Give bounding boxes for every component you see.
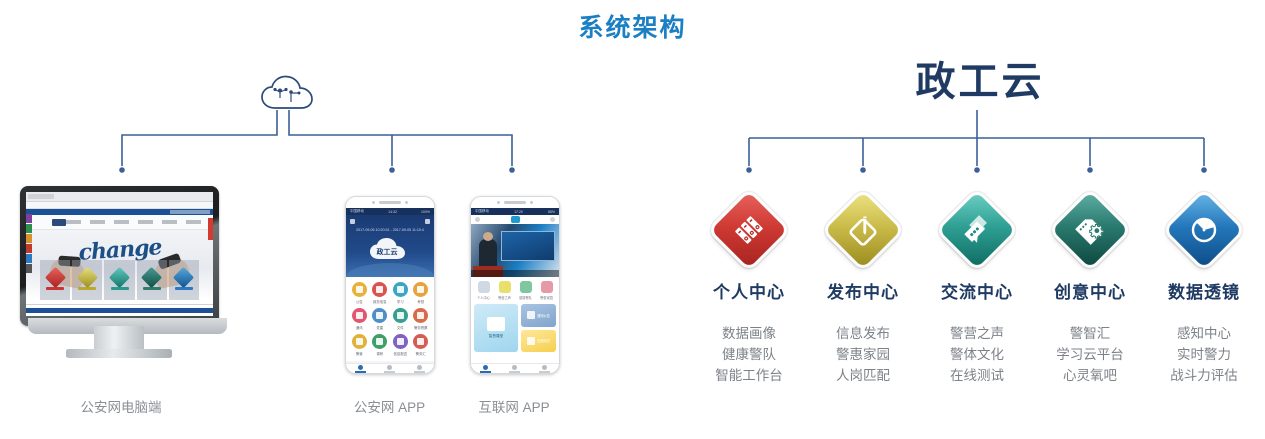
portal-card <box>104 260 134 300</box>
module-item[interactable]: 警智汇 <box>1030 323 1150 344</box>
device-desktop: change <box>12 186 227 371</box>
brand-logo: 政工云 <box>880 62 1080 102</box>
portal-footer <box>26 304 213 316</box>
monitor-screen: change <box>26 192 213 316</box>
device-label-desktop: 公安网电脑端 <box>46 396 196 416</box>
module-item[interactable]: 健康警队 <box>689 344 809 365</box>
portal-card <box>137 260 167 300</box>
app-toolbar <box>471 215 559 224</box>
portal-card <box>72 260 102 300</box>
portal-side-tabs <box>26 214 32 274</box>
svg-text:政工云: 政工云 <box>377 247 398 256</box>
portal-logo <box>52 219 66 226</box>
module-title: 创意中心 <box>1030 278 1150 303</box>
module-item[interactable]: 学习云平台 <box>1030 344 1150 365</box>
tab-home[interactable] <box>346 364 375 374</box>
status-time: 14:32 <box>388 210 397 214</box>
portal-topbar <box>26 209 213 215</box>
status-carrier: 中国移动 <box>350 209 364 214</box>
status-battery: 100% <box>421 210 430 214</box>
phone-notch <box>471 197 559 208</box>
tab-smart-apps[interactable] <box>500 364 529 374</box>
module-items: 信息发布 警惠家园 人岗匹配 <box>803 323 923 386</box>
module-items: 警智汇 学习云平台 心灵氧吧 <box>1030 323 1150 386</box>
module-creative-center[interactable]: 创意中心 警智汇 学习云平台 心灵氧吧 <box>1030 196 1150 386</box>
screen-wall <box>501 231 555 261</box>
notice-icon <box>527 311 535 319</box>
module-item[interactable]: 实时警力 <box>1144 344 1264 365</box>
app-grid-item[interactable]: 学习 <box>391 282 410 304</box>
quick-icon-label: 警营之声 <box>498 295 511 300</box>
banner-photo[interactable] <box>471 224 559 277</box>
app-item-label: 调研 <box>376 351 383 356</box>
module-item[interactable]: 警体文化 <box>917 344 1037 365</box>
module-item[interactable]: 在线测试 <box>917 365 1037 386</box>
app-item-label: 警务督察 <box>414 325 428 330</box>
status-battery: 88% <box>548 210 555 214</box>
module-icon <box>1056 196 1124 264</box>
phone-tabbar <box>346 363 434 374</box>
app-grid-item[interactable]: 警营 <box>350 334 369 356</box>
quick-icon-item[interactable]: 个人中心 <box>474 281 493 300</box>
module-title: 个人中心 <box>689 278 809 303</box>
device-label-internet-app: 互联网 APP <box>455 396 573 416</box>
module-personal-center[interactable]: 个人中心 数据画像 健康警队 智能工作台 <box>689 196 809 386</box>
app-grid-item[interactable]: 信息报送 <box>391 334 410 356</box>
document-gear-icon <box>1042 182 1138 278</box>
module-items: 警营之声 警体文化 在线测试 <box>917 323 1037 386</box>
portal-card <box>40 260 70 300</box>
app-grid-item[interactable]: 通讯 <box>350 308 369 330</box>
module-items: 感知中心 实时警力 战斗力评估 <box>1144 323 1264 386</box>
app-item-label: 学习 <box>397 299 404 304</box>
tab-home[interactable] <box>471 364 500 374</box>
device-police-app: 中国移动 14:32 100% 2017-09-05 10:20:51 - 20… <box>345 196 435 374</box>
menu-icon[interactable] <box>475 217 480 222</box>
quick-icon-row: 个人中心 警营之声 健康警队 警惠家园 <box>471 277 559 304</box>
app-logo-icon <box>511 216 520 223</box>
app-header: 2017-09-05 10:20:51 - 2017-09-05 11:10:4… <box>346 215 434 277</box>
module-icon <box>1170 196 1238 264</box>
portal-navbar <box>26 215 213 230</box>
app-item-label: 公告 <box>356 299 363 304</box>
test-icon <box>527 337 535 345</box>
app-item-label: 政务信息 <box>373 299 387 304</box>
browser-tabbar <box>26 192 213 202</box>
portal-nav-items <box>66 220 213 224</box>
app-grid-item[interactable]: 公告 <box>350 282 369 304</box>
module-title: 交流中心 <box>917 278 1037 303</box>
module-data-lens[interactable]: 数据透镜 感知中心 实时警力 战斗力评估 <box>1144 196 1264 386</box>
feature-card-label: 智慧课堂 <box>489 334 503 339</box>
module-title: 发布中心 <box>803 278 923 303</box>
module-publish-center[interactable]: 发布中心 信息发布 警惠家园 人岗匹配 <box>803 196 923 386</box>
module-icon <box>943 196 1011 264</box>
module-item[interactable]: 警营之声 <box>917 323 1037 344</box>
module-title: 数据透镜 <box>1144 278 1264 303</box>
module-item[interactable]: 信息发布 <box>803 323 923 344</box>
phone-screen: 2017-09-05 10:20:51 - 2017-09-05 11:10:4… <box>346 215 434 363</box>
phone-notch <box>346 197 434 208</box>
phone-statusbar: 中国移动 14:32 100% <box>346 208 434 215</box>
quick-icon-label: 警惠家园 <box>540 295 553 300</box>
feature-card-small[interactable]: 通知公告 <box>521 304 556 327</box>
app-icon-grid: 公告 政务信息 学习 考勤 通讯 党建 文件 警务督察 警营 调研 信息报送 警… <box>346 277 434 361</box>
app-grid-item[interactable]: 调研 <box>371 334 390 356</box>
app-grid-item[interactable]: 党建 <box>371 308 390 330</box>
app-item-label: 警营 <box>356 351 363 356</box>
edit-pencil-icon <box>815 182 911 278</box>
app-item-label: 考勤 <box>417 299 424 304</box>
quick-icon-item[interactable]: 警惠家园 <box>537 281 556 300</box>
app-grid-item[interactable]: 警务汇 <box>412 334 431 356</box>
module-items: 数据画像 健康警队 智能工作台 <box>689 323 809 386</box>
portal-module-cards <box>40 260 199 300</box>
app-grid-item[interactable]: 警务督察 <box>412 308 431 330</box>
module-item[interactable]: 数据画像 <box>689 323 809 344</box>
phone-screen: 个人中心 警营之声 健康警队 警惠家园 智慧课堂 通知公告 在 <box>471 215 559 363</box>
monitor-stand-base <box>66 349 172 358</box>
monitor-bezel: change <box>20 186 219 326</box>
phone-statusbar: 中国移动 17:20 88% <box>471 208 559 215</box>
device-internet-app: 中国移动 17:20 88% 个人中心 警营之声 健康警队 警惠家园 <box>470 196 560 374</box>
app-item-label: 警务汇 <box>416 351 426 356</box>
feature-card-label: 在线测试 <box>537 338 550 343</box>
app-item-label: 通讯 <box>356 325 363 330</box>
pie-chart-icon <box>1156 182 1252 278</box>
status-carrier: 中国移动 <box>475 209 489 214</box>
phone-tabbar <box>471 363 559 374</box>
module-item[interactable]: 心灵氧吧 <box>1030 365 1150 386</box>
chat-bubble-icon <box>929 182 1025 278</box>
module-item[interactable]: 人岗匹配 <box>803 365 923 386</box>
module-item[interactable]: 战斗力评估 <box>1144 365 1264 386</box>
browser-urlbar <box>26 202 213 209</box>
cloud-network-icon <box>258 72 320 116</box>
feature-card-small[interactable]: 在线测试 <box>521 330 556 353</box>
module-communication-center[interactable]: 交流中心 警营之声 警体文化 在线测试 <box>917 196 1037 386</box>
app-item-label: 党建 <box>376 325 383 330</box>
portal-hero: change <box>26 230 213 300</box>
feature-card-label: 通知公告 <box>537 313 550 318</box>
app-grid-item[interactable]: 政务信息 <box>371 282 390 304</box>
feature-card-large[interactable]: 智慧课堂 <box>474 304 518 352</box>
app-grid-item[interactable]: 考勤 <box>412 282 431 304</box>
portal-side-banner <box>208 218 213 240</box>
app-item-label: 文件 <box>397 325 404 330</box>
module-item[interactable]: 感知中心 <box>1144 323 1264 344</box>
feature-cards: 智慧课堂 通知公告 在线测试 <box>471 304 559 352</box>
binders-icon <box>701 182 797 278</box>
module-icon <box>715 196 783 264</box>
tab-apps[interactable] <box>375 364 404 374</box>
header-wave <box>346 263 434 277</box>
close-icon[interactable] <box>550 217 555 222</box>
module-item[interactable]: 警惠家园 <box>803 344 923 365</box>
module-item[interactable]: 智能工作台 <box>689 365 809 386</box>
app-item-label: 信息报送 <box>393 351 407 356</box>
device-label-police-app: 公安网 APP <box>332 396 447 416</box>
monitor-stand-neck <box>94 326 144 350</box>
app-grid-item[interactable]: 文件 <box>391 308 410 330</box>
quick-icon-label: 健康警队 <box>519 295 532 300</box>
module-icon <box>829 196 897 264</box>
quick-icon-item[interactable]: 警营之声 <box>495 281 514 300</box>
portal-card <box>169 260 199 300</box>
app-header-note: 2017-09-05 10:20:51 - 2017-09-05 11:10:4 <box>346 228 434 232</box>
classroom-icon <box>487 317 505 331</box>
quick-icon-label: 个人中心 <box>477 295 490 300</box>
status-time: 17:20 <box>514 210 523 214</box>
quick-icon-item[interactable]: 健康警队 <box>516 281 535 300</box>
banner-caption <box>471 270 559 277</box>
system-architecture-diagram: 系统架构 <box>0 0 1265 439</box>
